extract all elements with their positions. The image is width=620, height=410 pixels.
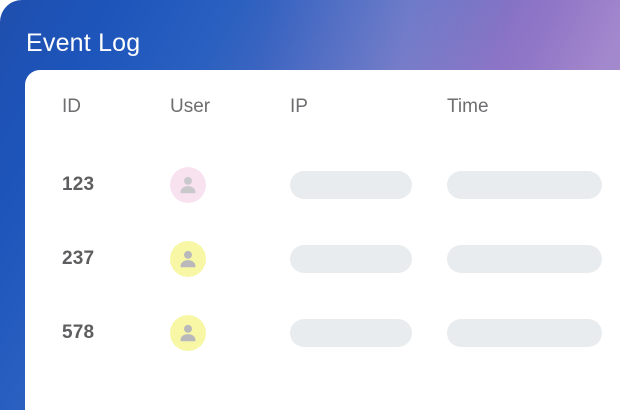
cell-time-placeholder — [447, 171, 602, 199]
gradient-background-panel: Event Log ID User IP Time 123 — [0, 0, 620, 410]
event-log-table: ID User IP Time 123 — [25, 70, 620, 410]
cell-ip-placeholder — [290, 319, 412, 347]
cell-time-placeholder — [447, 245, 602, 273]
cell-id: 237 — [62, 236, 94, 282]
page-title: Event Log — [26, 26, 140, 60]
cell-user[interactable] — [170, 167, 206, 203]
column-header-user[interactable]: User — [170, 92, 210, 122]
cell-ip-placeholder — [290, 171, 412, 199]
cell-user[interactable] — [170, 315, 206, 351]
table-header-row: ID User IP Time — [25, 92, 620, 122]
cell-id: 578 — [62, 310, 94, 356]
cell-user[interactable] — [170, 241, 206, 277]
column-header-id[interactable]: ID — [62, 92, 81, 122]
column-header-time[interactable]: Time — [447, 92, 489, 122]
column-header-ip[interactable]: IP — [290, 92, 308, 122]
person-avatar-icon[interactable] — [170, 241, 206, 277]
cell-time-placeholder — [447, 319, 602, 347]
cell-ip-placeholder — [290, 245, 412, 273]
person-avatar-icon[interactable] — [170, 315, 206, 351]
table-row[interactable]: 578 — [25, 310, 620, 356]
event-log-card: ID User IP Time 123 — [25, 70, 620, 410]
table-row[interactable]: 237 — [25, 236, 620, 282]
table-row[interactable]: 123 — [25, 162, 620, 208]
person-avatar-icon[interactable] — [170, 167, 206, 203]
event-log-screenshot: Event Log ID User IP Time 123 — [0, 0, 620, 410]
cell-id: 123 — [62, 162, 94, 208]
